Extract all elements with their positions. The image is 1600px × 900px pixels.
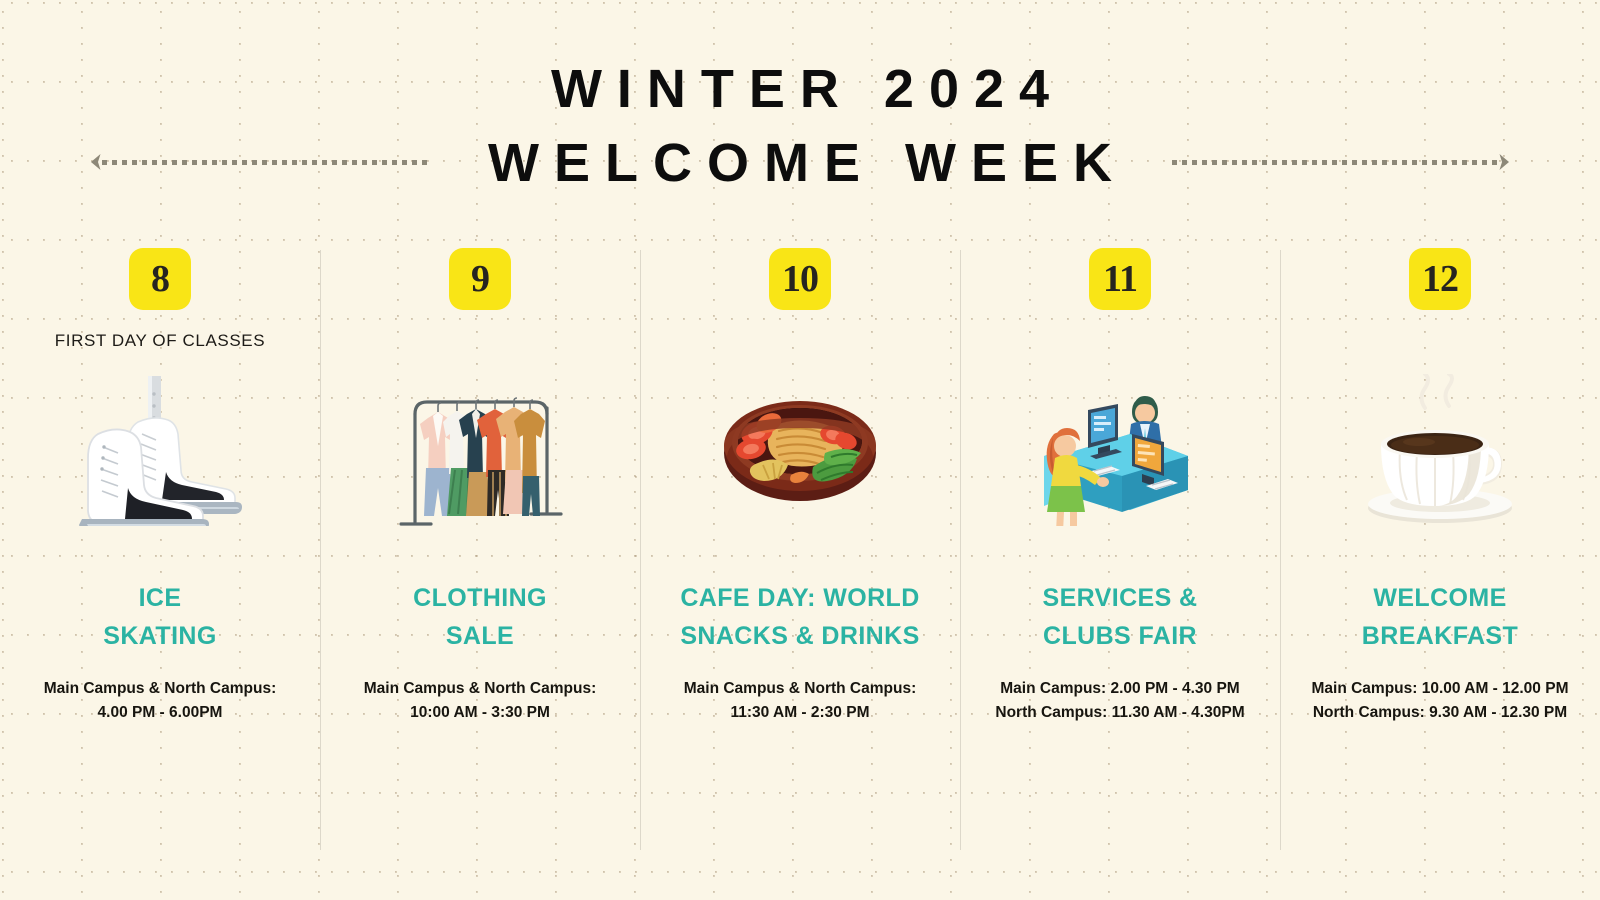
event-title-line-1: SERVICES & [968,579,1272,617]
schedule-columns: 8 FIRST DAY OF CLASSES [0,232,1600,872]
page-title: WINTER 2024 WELCOME WEEK [0,52,1600,200]
event-times: Main Campus: 2.00 PM - 4.30 PM North Cam… [960,677,1280,725]
event-title-line-1: CLOTHING [328,579,632,617]
day-column: 9 [320,232,640,872]
day-column: 12 [1280,232,1600,872]
event-times-line-2: North Campus: 9.30 AM - 12.30 PM [1284,701,1596,725]
event-times-line-2: 4.00 PM - 6.00PM [4,701,316,725]
event-title: WELCOME BREAKFAST [1280,579,1600,655]
date-note: FIRST DAY OF CLASSES [55,331,265,351]
title-line-1: WINTER 2024 [0,52,1600,126]
clothing-rack-icon [365,371,595,531]
event-times: Main Campus & North Campus: 4.00 PM - 6.… [0,677,320,725]
arrow-right-line [1172,160,1498,165]
event-title: CLOTHING SALE [320,579,640,655]
food-bowl-icon [685,371,915,531]
event-title-line-2: SALE [328,617,632,655]
event-title-line-1: WELCOME [1288,579,1592,617]
event-times-line-1: Main Campus & North Campus: [4,677,316,701]
date-badge: 12 [1409,248,1471,310]
event-title-line-2: SKATING [8,617,312,655]
event-title-line-2: SNACKS & DRINKS [648,617,952,655]
event-times-line-1: Main Campus & North Campus: [644,677,956,701]
event-times-line-1: Main Campus: 10.00 AM - 12.00 PM [1284,677,1596,701]
day-column: 10 [640,232,960,872]
event-times: Main Campus: 10.00 AM - 12.00 PM North C… [1280,677,1600,725]
date-badge: 8 [129,248,191,310]
date-badge: 11 [1089,248,1151,310]
day-column: 11 [960,232,1280,872]
arrow-right-dotted-icon [1172,154,1512,170]
event-title: CAFE DAY: WORLD SNACKS & DRINKS [640,579,960,655]
event-times-line-1: Main Campus: 2.00 PM - 4.30 PM [964,677,1276,701]
event-times-line-1: Main Campus & North Campus: [324,677,636,701]
event-title-line-1: CAFE DAY: WORLD [648,579,952,617]
date-badge: 9 [449,248,511,310]
ice-skates-icon [45,371,275,531]
event-title: SERVICES & CLUBS FAIR [960,579,1280,655]
event-title-line-1: ICE [8,579,312,617]
event-times-line-2: North Campus: 11.30 AM - 4.30PM [964,701,1276,725]
event-times-line-2: 11:30 AM - 2:30 PM [644,701,956,725]
event-title-line-2: BREAKFAST [1288,617,1592,655]
coffee-cup-icon [1325,371,1555,531]
date-badge: 10 [769,248,831,310]
event-times-line-2: 10:00 AM - 3:30 PM [324,701,636,725]
event-title-line-2: CLUBS FAIR [968,617,1272,655]
day-column: 8 FIRST DAY OF CLASSES [0,232,320,872]
event-times: Main Campus & North Campus: 11:30 AM - 2… [640,677,960,725]
event-title: ICE SKATING [0,579,320,655]
event-times: Main Campus & North Campus: 10:00 AM - 3… [320,677,640,725]
header: WINTER 2024 WELCOME WEEK [0,0,1600,215]
info-desk-icon [1005,371,1235,531]
